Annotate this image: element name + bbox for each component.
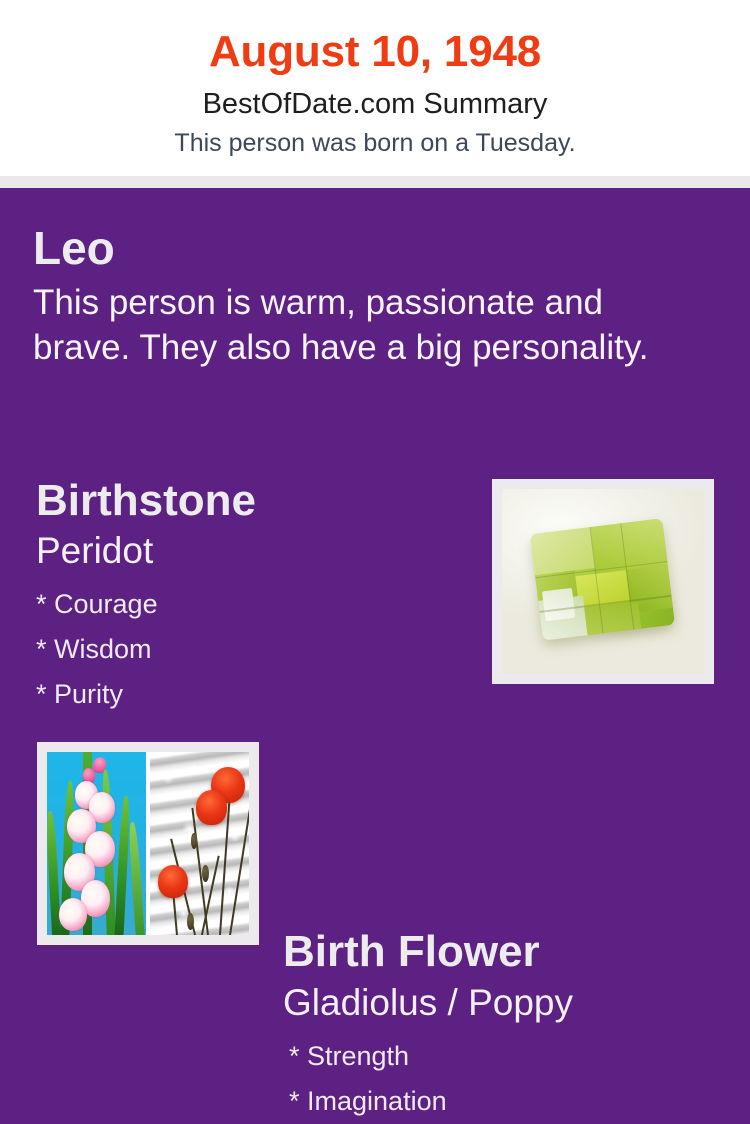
poppy-bud	[187, 913, 194, 929]
born-day-text: This person was born on a Tuesday.	[0, 127, 750, 159]
page-header: August 10, 1948 BestOfDate.com Summary T…	[0, 0, 750, 176]
list-item: * Courage	[36, 582, 466, 627]
birth-flower-name: Gladiolus / Poppy	[283, 980, 733, 1026]
gem-body	[530, 518, 675, 641]
birthstone-section: Birthstone Peridot * Courage * Wisdom * …	[36, 474, 466, 717]
birthstone-title: Birthstone	[36, 474, 466, 528]
site-name: BestOfDate.com Summary	[0, 86, 750, 122]
poppy-bloom	[196, 790, 228, 825]
peridot-gemstone-image	[502, 489, 704, 674]
header-divider	[0, 176, 750, 188]
zodiac-description: This person is warm, passionate and brav…	[33, 280, 673, 370]
gladiolus-photo	[47, 752, 146, 935]
gem-facet-highlight	[543, 588, 576, 621]
birth-flower-title: Birth Flower	[283, 924, 733, 980]
zodiac-sign-name: Leo	[33, 222, 693, 274]
gladiolus-bloom	[59, 898, 87, 931]
birth-flower-section: Birth Flower Gladiolus / Poppy * Strengt…	[283, 924, 733, 1124]
summary-page: August 10, 1948 BestOfDate.com Summary T…	[0, 0, 750, 1000]
poppy-photo	[150, 752, 249, 935]
birth-flower-traits-list: * Strength * Imagination	[283, 1034, 733, 1124]
list-item: * Purity	[36, 672, 466, 717]
gem-facet	[530, 527, 596, 575]
flower-split-layout	[47, 752, 249, 935]
birthstone-traits-list: * Courage * Wisdom * Purity	[36, 582, 466, 717]
birth-flower-image-frame	[37, 742, 259, 945]
birthstone-image-frame	[492, 479, 714, 684]
birthstone-name: Peridot	[36, 528, 466, 574]
list-item: * Strength	[289, 1034, 733, 1079]
poppy-bloom	[158, 865, 188, 898]
list-item: * Wisdom	[36, 627, 466, 672]
page-title-date: August 10, 1948	[0, 26, 750, 78]
gladiolus-poppy-image	[47, 752, 249, 935]
list-item: * Imagination	[289, 1079, 733, 1124]
zodiac-section: Leo This person is warm, passionate and …	[33, 222, 693, 370]
